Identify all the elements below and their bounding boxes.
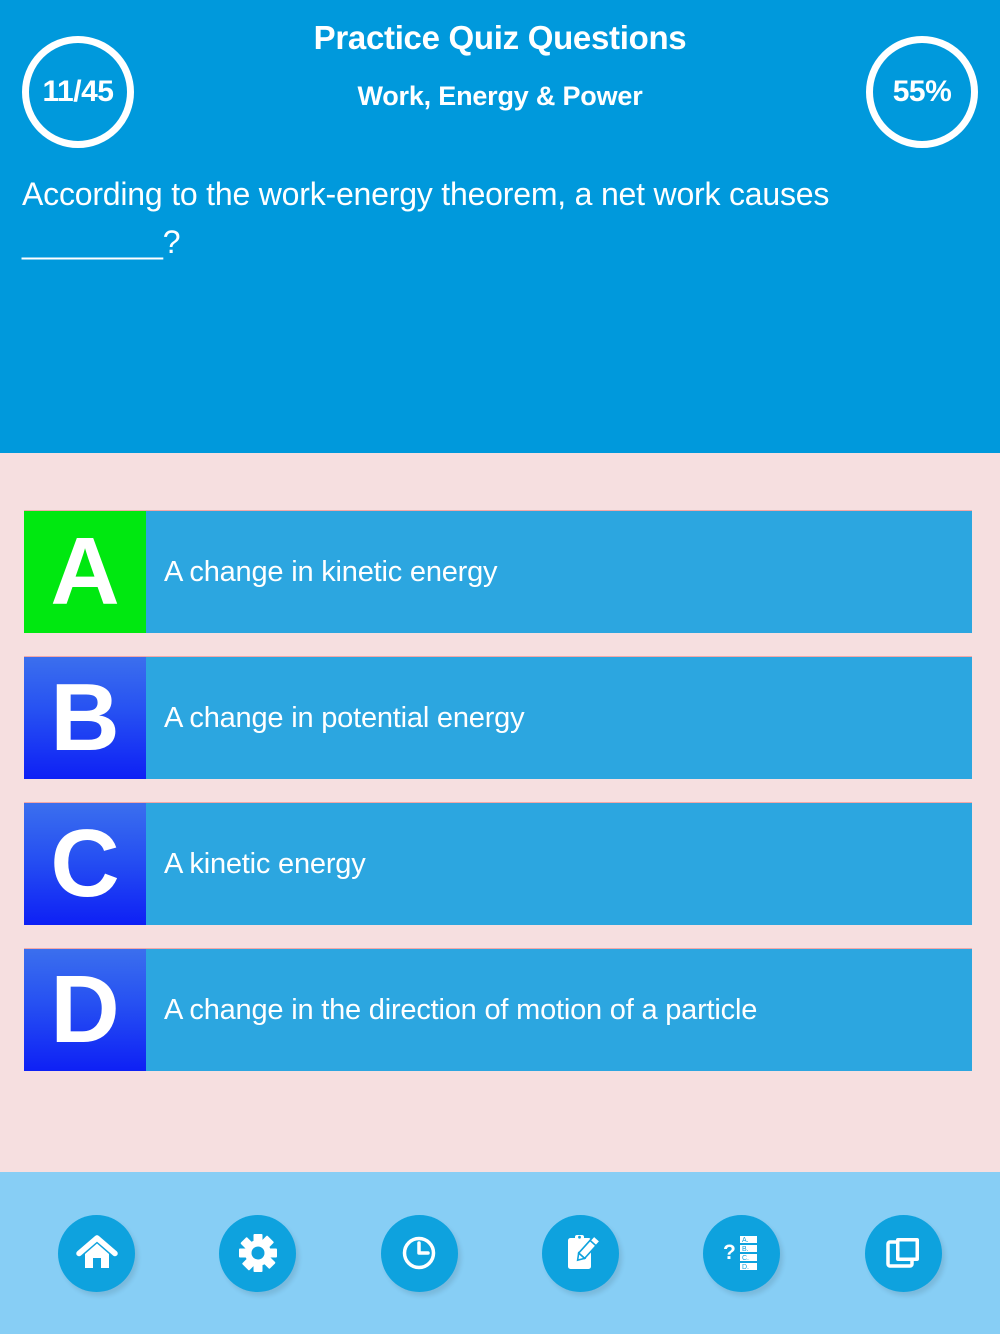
option-letter-c: C (50, 816, 119, 912)
option-text-d[interactable]: A change in the direction of motion of a… (146, 949, 972, 1071)
answer-options-list: A A change in kinetic energy B A change … (0, 453, 1000, 1172)
progress-percent-badge: 55% (866, 36, 978, 148)
answer-option-a[interactable]: A A change in kinetic energy (24, 510, 972, 633)
clipboard-pencil-icon (559, 1231, 603, 1275)
nav-button-history[interactable] (381, 1215, 458, 1292)
question-counter-text: 11/45 (43, 75, 114, 109)
copy-layers-icon (881, 1231, 925, 1275)
nav-button-settings[interactable] (219, 1215, 296, 1292)
option-letter-badge-b[interactable]: B (24, 657, 146, 779)
header-top-bar: 11/45 Practice Quiz Questions Work, Ener… (0, 0, 1000, 160)
gear-icon (236, 1231, 280, 1275)
option-letter-d: D (50, 962, 119, 1058)
option-letter-b: B (50, 670, 119, 766)
option-text-c[interactable]: A kinetic energy (146, 803, 972, 925)
page-subtitle: Work, Energy & Power (160, 74, 840, 118)
answer-option-d[interactable]: D A change in the direction of motion of… (24, 948, 972, 1071)
nav-button-quiz[interactable]: ? A. B. C. D. (703, 1215, 780, 1292)
nav-button-decks[interactable] (865, 1215, 942, 1292)
answer-option-c[interactable]: C A kinetic energy (24, 802, 972, 925)
quiz-app-screen: 11/45 Practice Quiz Questions Work, Ener… (0, 0, 1000, 1334)
svg-text:D.: D. (742, 1264, 749, 1271)
nav-button-home[interactable] (58, 1215, 135, 1292)
option-letter-badge-a[interactable]: A (24, 511, 146, 633)
option-text-a[interactable]: A change in kinetic energy (146, 511, 972, 633)
option-letter-badge-d[interactable]: D (24, 949, 146, 1071)
quiz-choices-icon: ? A. B. C. D. (719, 1230, 765, 1276)
bottom-navigation-bar: ? A. B. C. D. (0, 1172, 1000, 1334)
question-text: According to the work-energy theorem, a … (22, 170, 960, 266)
answer-option-b[interactable]: B A change in potential energy (24, 656, 972, 779)
svg-text:A.: A. (742, 1237, 749, 1244)
quiz-header: 11/45 Practice Quiz Questions Work, Ener… (0, 0, 1000, 453)
svg-text:B.: B. (742, 1246, 749, 1253)
svg-text:C.: C. (742, 1255, 749, 1262)
svg-text:?: ? (723, 1241, 736, 1264)
page-title: Practice Quiz Questions (160, 16, 840, 60)
nav-button-notes[interactable] (542, 1215, 619, 1292)
header-title-block: Practice Quiz Questions Work, Energy & P… (160, 16, 840, 118)
home-icon (75, 1231, 119, 1275)
clock-icon (397, 1231, 441, 1275)
option-letter-a: A (50, 524, 119, 620)
option-letter-badge-c[interactable]: C (24, 803, 146, 925)
progress-percent-text: 55% (893, 75, 952, 109)
option-text-b[interactable]: A change in potential energy (146, 657, 972, 779)
question-counter-badge: 11/45 (22, 36, 134, 148)
